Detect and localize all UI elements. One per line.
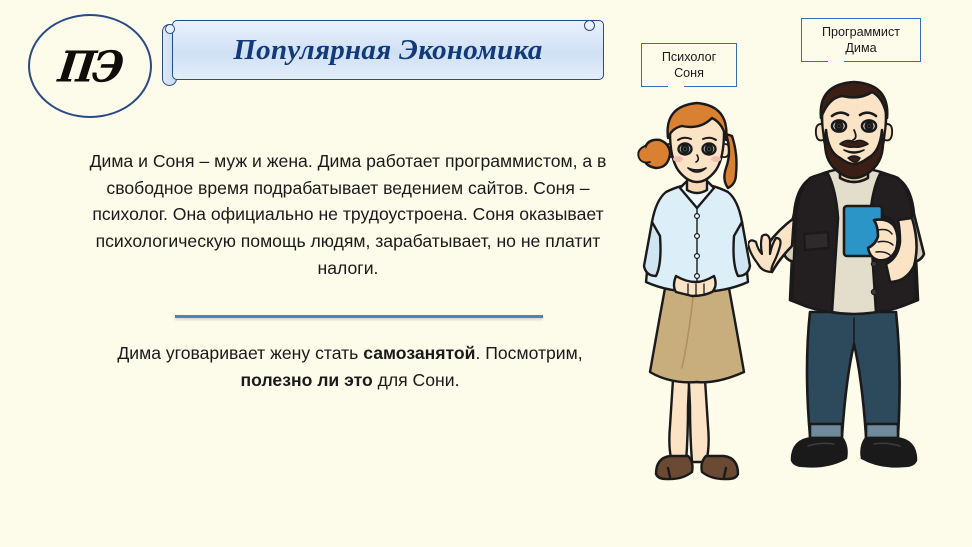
callout-psychologist: Психолог Соня [641,43,737,87]
conclusion-text-2: . Посмотрим, [475,343,582,363]
callout-tail-cover [668,84,684,87]
conclusion-bold-2: полезно ли это [241,370,373,390]
callout-tail-icon [668,86,684,95]
conclusion-text-1: Дима уговаривает жену стать [117,343,363,363]
callout-programmer: Программист Дима [801,18,921,62]
callout-psychologist-line2: Соня [652,65,726,81]
callout-programmer-line2: Дима [812,40,910,56]
callout-psychologist-line1: Психолог [652,49,726,65]
dima-illustration [748,68,953,503]
title-banner: Популярная Экономика [160,16,615,88]
scroll-curl-right-icon [584,20,595,31]
section-divider [175,315,543,318]
title-banner-body: Популярная Экономика [172,20,604,80]
intro-paragraph: Дима и Соня – муж и жена. Дима работает … [72,148,624,282]
conclusion-text-3: для Сони. [373,370,460,390]
slide-canvas: ПЭ Популярная Экономика Дима и Соня – му… [0,0,972,547]
page-title: Популярная Экономика [233,34,542,67]
popular-economics-logo: ПЭ [28,14,152,118]
callout-tail-cover [828,59,844,62]
conclusion-bold-1: самозанятой [363,343,475,363]
logo-monogram: ПЭ [55,41,124,91]
scroll-curl-left-icon [165,24,175,34]
conclusion-paragraph: Дима уговаривает жену стать самозанятой.… [100,340,600,393]
callout-programmer-line1: Программист [812,24,910,40]
